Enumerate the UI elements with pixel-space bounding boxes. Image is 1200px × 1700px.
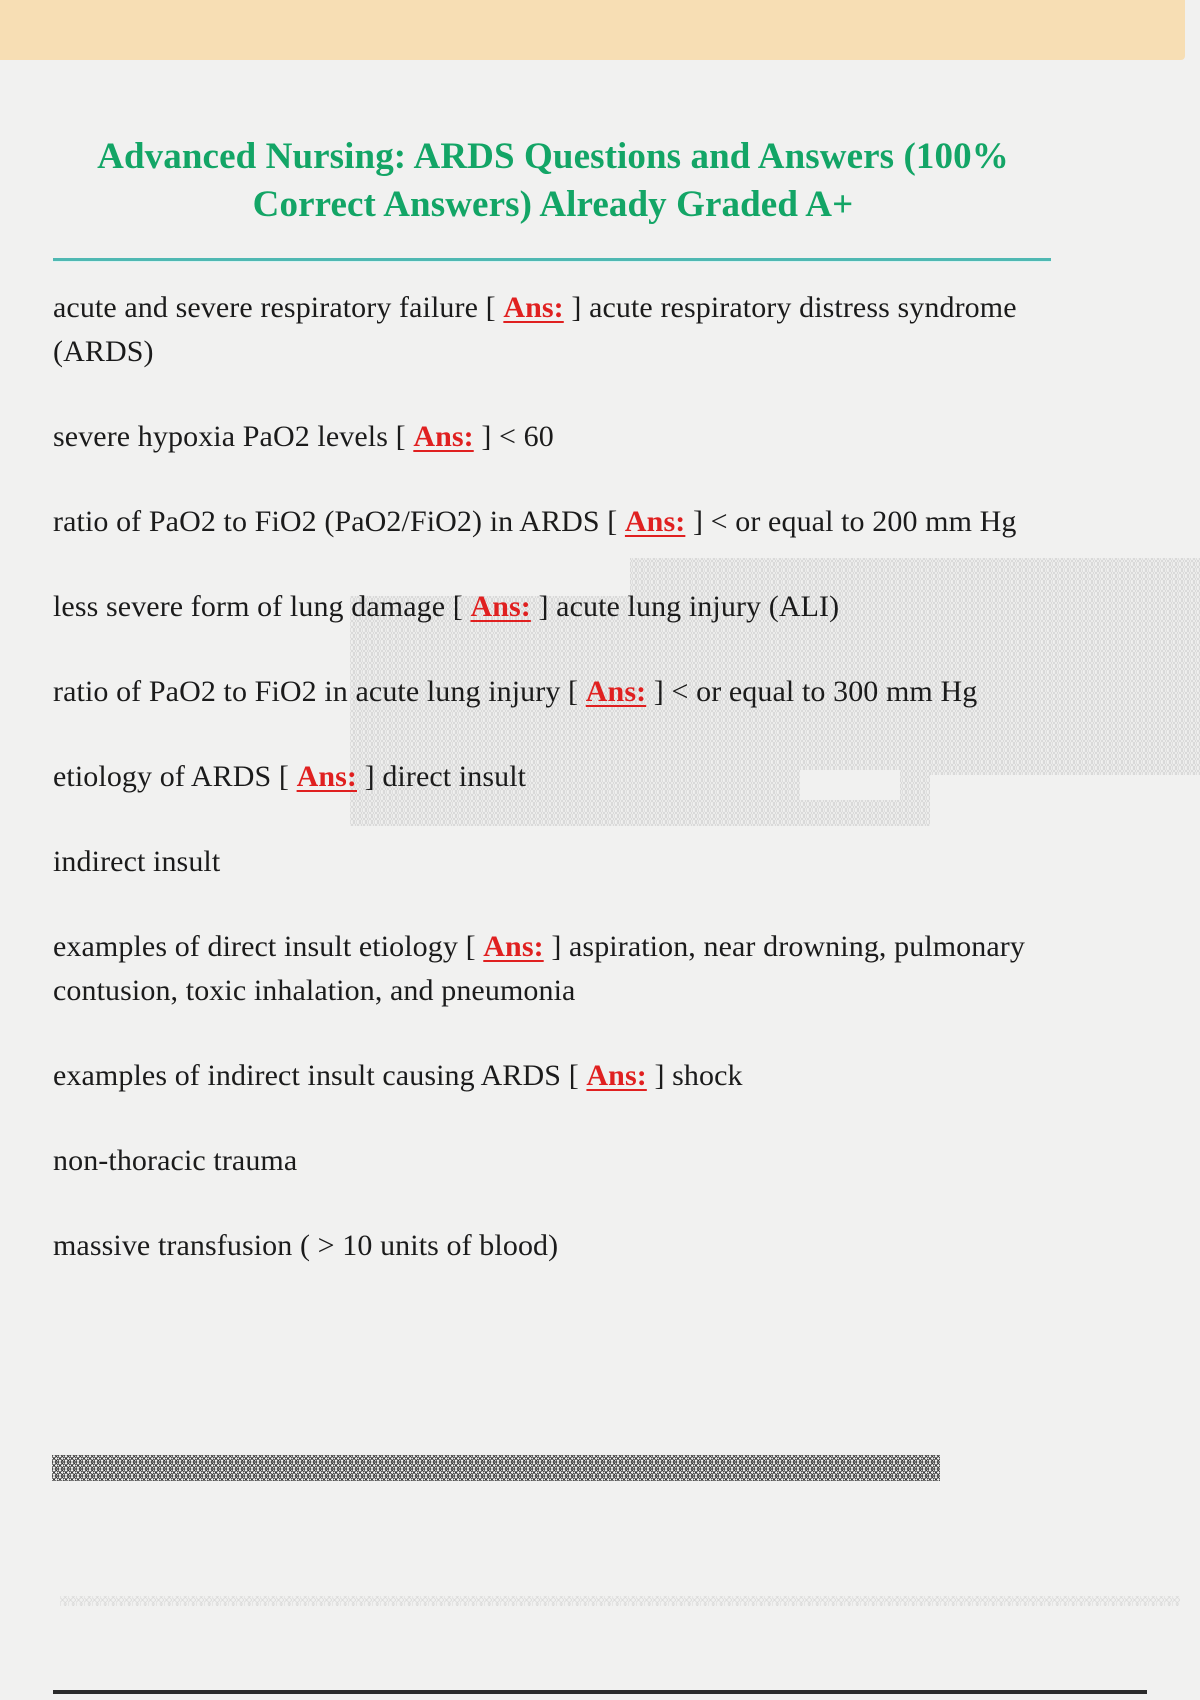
qa-answer: ] < or equal to 300 mm Hg: [654, 675, 978, 708]
answer-tag: Ans:: [483, 930, 543, 963]
title-divider: [53, 258, 1051, 261]
qa-answer: ] < or equal to 200 mm Hg: [693, 505, 1017, 538]
qa-item: acute and severe respiratory failure [ A…: [53, 286, 1053, 374]
qa-question: non-thoracic trauma: [53, 1144, 297, 1177]
qa-item: examples of direct insult etiology [ Ans…: [53, 925, 1053, 1013]
answer-tag: Ans:: [625, 505, 685, 538]
page-title: Advanced Nursing: ARDS Questions and Ans…: [53, 133, 1053, 229]
qa-answer: ] < 60: [481, 420, 554, 453]
qa-question: less severe form of lung damage [: [53, 590, 463, 623]
qa-answer: ] acute lung injury (ALI): [538, 590, 839, 623]
footer-divider: [53, 1690, 1147, 1694]
top-banner: [0, 0, 1185, 60]
qa-item: indirect insult: [53, 840, 1053, 884]
qa-question: severe hypoxia PaO2 levels [: [53, 420, 406, 453]
qa-answer: ] shock: [654, 1059, 742, 1092]
qa-content-list: acute and severe respiratory failure [ A…: [53, 286, 1053, 1309]
qa-item: less severe form of lung damage [ Ans: ]…: [53, 585, 1053, 629]
qa-item: etiology of ARDS [ Ans: ] direct insult: [53, 755, 1053, 799]
answer-tag: Ans:: [586, 675, 646, 708]
qa-question: ratio of PaO2 to FiO2 in acute lung inju…: [53, 675, 578, 708]
qa-item: severe hypoxia PaO2 levels [ Ans: ] < 60: [53, 415, 1053, 459]
qa-question: examples of direct insult etiology [: [53, 930, 476, 963]
qa-question: acute and severe respiratory failure [: [53, 291, 496, 324]
qa-item: massive transfusion ( > 10 units of bloo…: [53, 1224, 1053, 1268]
answer-tag: Ans:: [503, 291, 563, 324]
qa-question: ratio of PaO2 to FiO2 (PaO2/FiO2) in ARD…: [53, 505, 617, 538]
answer-tag: Ans:: [413, 420, 473, 453]
qa-answer: ] direct insult: [365, 760, 526, 793]
qa-question: massive transfusion ( > 10 units of bloo…: [53, 1229, 558, 1262]
answer-tag: Ans:: [297, 760, 357, 793]
qa-item: examples of indirect insult causing ARDS…: [53, 1054, 1053, 1098]
qa-question: etiology of ARDS [: [53, 760, 289, 793]
answer-tag: Ans:: [586, 1059, 646, 1092]
qa-question: indirect insult: [53, 845, 220, 878]
qa-item: ratio of PaO2 to FiO2 in acute lung inju…: [53, 670, 1053, 714]
qa-question: examples of indirect insult causing ARDS…: [53, 1059, 579, 1092]
answer-tag: Ans:: [470, 590, 530, 623]
qa-item: non-thoracic trauma: [53, 1139, 1053, 1183]
qa-item: ratio of PaO2 to FiO2 (PaO2/FiO2) in ARD…: [53, 500, 1053, 544]
